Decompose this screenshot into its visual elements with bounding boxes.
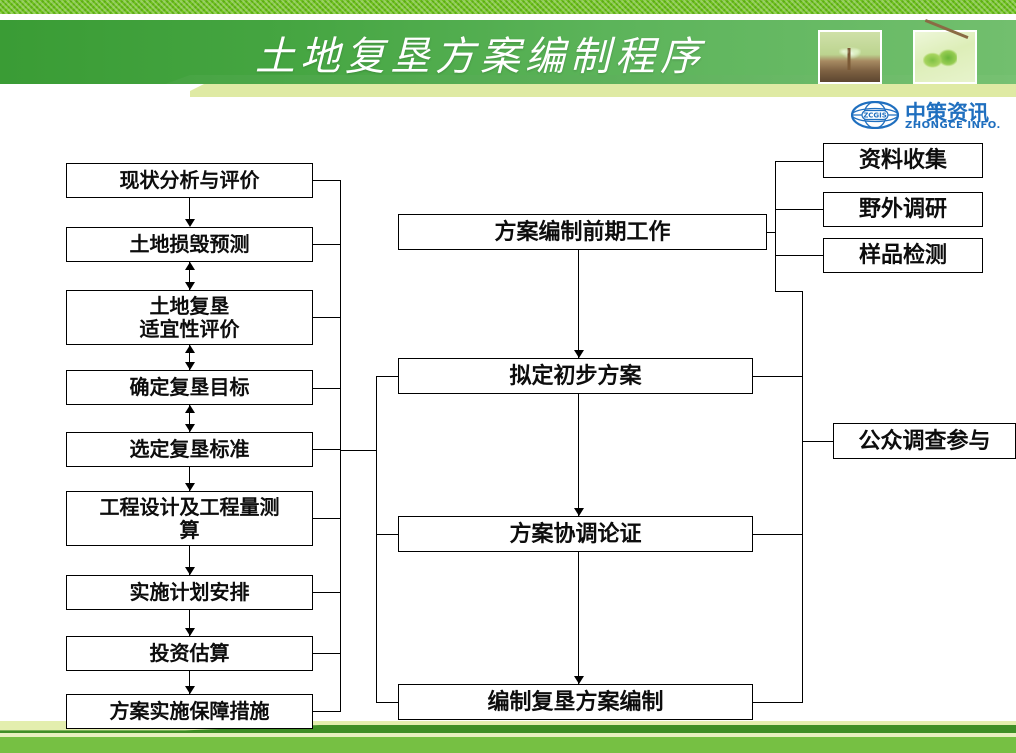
flow-box-plan-coordination[interactable]: 方案协调论证 (398, 516, 753, 552)
flow-box-select-standard[interactable]: 选定复垦标准 (66, 432, 313, 467)
arrow-l6-l7 (185, 567, 195, 575)
arrow-c2-c3 (574, 508, 584, 516)
flow-box-engineering-design[interactable]: 工程设计及工程量测 算 (66, 491, 313, 546)
arrow-l1-l2 (185, 219, 195, 227)
arrow-l3-l4-down (185, 362, 195, 370)
stub-l7 (313, 592, 341, 593)
connector-c1-c2 (578, 250, 579, 358)
stub-r2 (775, 209, 824, 210)
box-line-2: 算 (180, 519, 200, 541)
arrow-l3-l4-up (185, 345, 195, 353)
stub-l1 (313, 180, 341, 181)
arrow-l4-l5-down (185, 424, 195, 432)
flow-box-field-survey[interactable]: 野外调研 (823, 192, 983, 227)
spine-top-to-bottom-link (775, 291, 803, 292)
stub-r1 (775, 161, 824, 162)
flow-box-draft-plan[interactable]: 拟定初步方案 (398, 358, 753, 394)
stub-c2-right (753, 376, 803, 377)
flow-box-reclamation-suitability[interactable]: 土地复垦 适宜性评价 (66, 290, 313, 345)
flow-box-investment-estimate[interactable]: 投资估算 (66, 636, 313, 671)
flow-box-implementation-plan[interactable]: 实施计划安排 (66, 575, 313, 610)
flow-box-preliminary-work[interactable]: 方案编制前期工作 (398, 214, 767, 250)
flow-box-current-status-analysis[interactable]: 现状分析与评价 (66, 163, 313, 198)
footer-bright-band (0, 737, 1016, 753)
right-spine-top (775, 161, 776, 291)
stub-l8 (313, 653, 341, 654)
arrow-l2-l3-down (185, 282, 195, 290)
slide-canvas: 土地复垦方案编制程序 ZCGIS 中策资讯 ZHONGCE INFO. 现状分析… (0, 0, 1016, 753)
swoosh-notch-left (0, 84, 190, 97)
page-title: 土地复垦方案编制程序 (0, 22, 960, 84)
arrow-c1-c2 (574, 350, 584, 358)
flow-box-guarantee-measures[interactable]: 方案实施保障措施 (66, 694, 313, 729)
left-spine-to-center-spine (340, 450, 376, 451)
arrow-c3-c4 (574, 676, 584, 684)
arrow-l4-l5-up (185, 405, 195, 413)
stub-c2-left (376, 376, 399, 377)
swoosh-notch-diagonal (178, 84, 204, 97)
stub-c4-right (753, 702, 803, 703)
flow-box-public-survey[interactable]: 公众调查参与 (833, 423, 1016, 459)
stub-l6 (313, 518, 341, 519)
stub-l2 (313, 244, 341, 245)
box-line-1: 工程设计及工程量测 (100, 496, 280, 518)
flow-box-determine-goal[interactable]: 确定复垦目标 (66, 370, 313, 405)
stub-r4 (802, 441, 834, 442)
top-texture-strip (0, 0, 1016, 14)
flow-box-sample-testing[interactable]: 样品检测 (823, 238, 983, 273)
center-left-spine (376, 376, 377, 702)
left-spine (340, 180, 341, 712)
header-pale-swoosh (0, 84, 1016, 97)
logo-mark-text: ZCGIS (863, 112, 887, 120)
logo-name-en: ZHONGCE INFO. (905, 120, 1001, 131)
flow-box-compile-plan[interactable]: 编制复垦方案编制 (398, 684, 753, 720)
stub-l5 (313, 449, 341, 450)
stub-r3 (775, 255, 824, 256)
stub-l4 (313, 388, 341, 389)
flow-box-data-collection[interactable]: 资料收集 (823, 143, 983, 178)
arrow-l7-l8 (185, 628, 195, 636)
company-logo: ZCGIS 中策资讯 ZHONGCE INFO. (851, 99, 1011, 133)
stub-l3 (313, 317, 341, 318)
connector-c3-c4 (578, 552, 579, 684)
arrow-l2-l3-up (185, 262, 195, 270)
box-line-1: 土地复垦 (150, 295, 230, 317)
connector-l1-l2 (189, 198, 190, 220)
arrow-l5-l6 (185, 483, 195, 491)
stub-c3-right (753, 534, 803, 535)
box-line-2: 适宜性评价 (140, 318, 240, 340)
connector-c2-c3 (578, 394, 579, 516)
right-spine-bottom (802, 291, 803, 702)
sprout-photo (818, 30, 882, 84)
stub-l9 (313, 711, 341, 712)
flow-box-land-damage-prediction[interactable]: 土地损毁预测 (66, 227, 313, 262)
leaf-photo (913, 30, 977, 84)
arrow-l8-l9 (185, 686, 195, 694)
stub-c4-left (376, 702, 399, 703)
globe-icon: ZCGIS (851, 101, 899, 129)
stub-c3-left (376, 534, 399, 535)
